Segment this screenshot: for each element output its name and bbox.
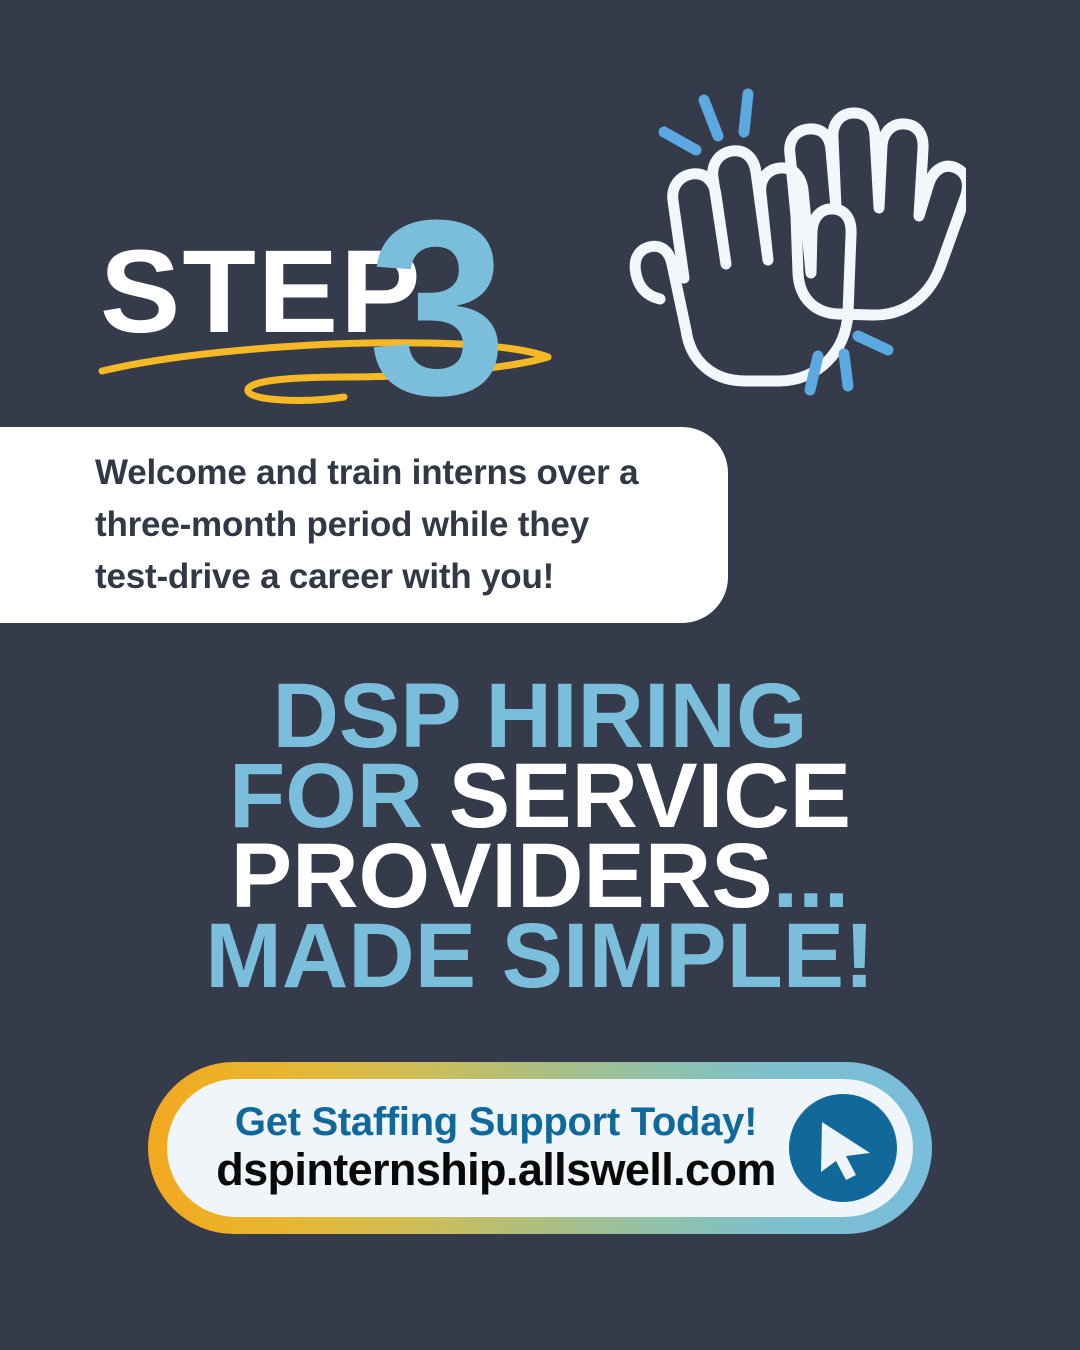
headline-line-2: FOR SERVICE: [0, 756, 1080, 836]
cta-url-label: dspinternship.allswell.com: [216, 1145, 776, 1195]
headline-line-3: PROVIDERS...: [0, 836, 1080, 916]
cta-title-label: Get Staffing Support Today!: [235, 1100, 757, 1145]
cursor-arrow-icon: [808, 1113, 878, 1183]
callout-line-1: Welcome and train interns over a: [95, 447, 688, 499]
headline-line-4-text: MADE SIMPLE!: [205, 905, 875, 1007]
callout-line-3: test-drive a career with you!: [95, 551, 688, 603]
step-heading: STEP 3: [96, 205, 616, 420]
headline-block: DSP HIRING FOR SERVICE PROVIDERS... MADE…: [0, 676, 1080, 996]
poster-canvas: STEP 3 Welcome and train interns over a …: [0, 0, 1080, 1350]
cta-inner-pill[interactable]: Get Staffing Support Today! dspinternshi…: [167, 1079, 913, 1217]
callout-line-2: three-month period while they: [95, 499, 688, 551]
cursor-badge[interactable]: [789, 1094, 897, 1202]
high-five-hands-icon: [600, 68, 966, 414]
headline-line-4: MADE SIMPLE!: [0, 916, 1080, 996]
headline-line-1: DSP HIRING: [0, 676, 1080, 756]
step-number-label: 3: [368, 183, 507, 433]
callout-card: Welcome and train interns over a three-m…: [0, 427, 728, 623]
cta-button[interactable]: Get Staffing Support Today! dspinternshi…: [148, 1062, 932, 1234]
